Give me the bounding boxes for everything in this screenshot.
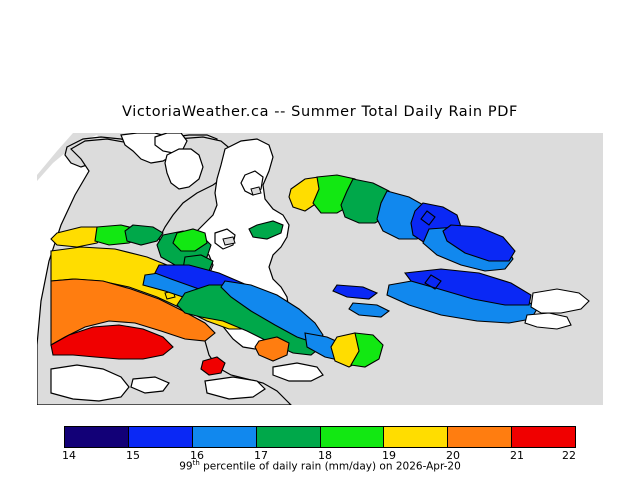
colorbar-band-14-15[interactable] [65,427,129,447]
colorbar[interactable] [64,426,576,448]
map-panel [37,133,603,405]
colorbar-band-20-21[interactable] [448,427,512,447]
colorbar-caption: 99th percentile of daily rain (mm/day) o… [0,459,640,473]
caption-suffix: percentile of daily rain (mm/day) on 202… [200,461,461,473]
land-speck-2 [223,237,235,245]
caption-superscript: th [193,459,200,467]
colorbar-band-17-18[interactable] [257,427,321,447]
caption-prefix: 99 [179,461,192,473]
colorbar-band-19-20[interactable] [384,427,448,447]
page-title: VictoriaWeather.ca -- Summer Total Daily… [0,104,640,120]
colorbar-band-15-16[interactable] [129,427,193,447]
weather-map-page: VictoriaWeather.ca -- Summer Total Daily… [0,0,640,480]
land-speck-1 [251,187,261,195]
colorbar-band-16-17[interactable] [193,427,257,447]
colorbar-band-21-22[interactable] [512,427,575,447]
colorbar-band-18-19[interactable] [321,427,385,447]
map-graphic [37,133,603,405]
